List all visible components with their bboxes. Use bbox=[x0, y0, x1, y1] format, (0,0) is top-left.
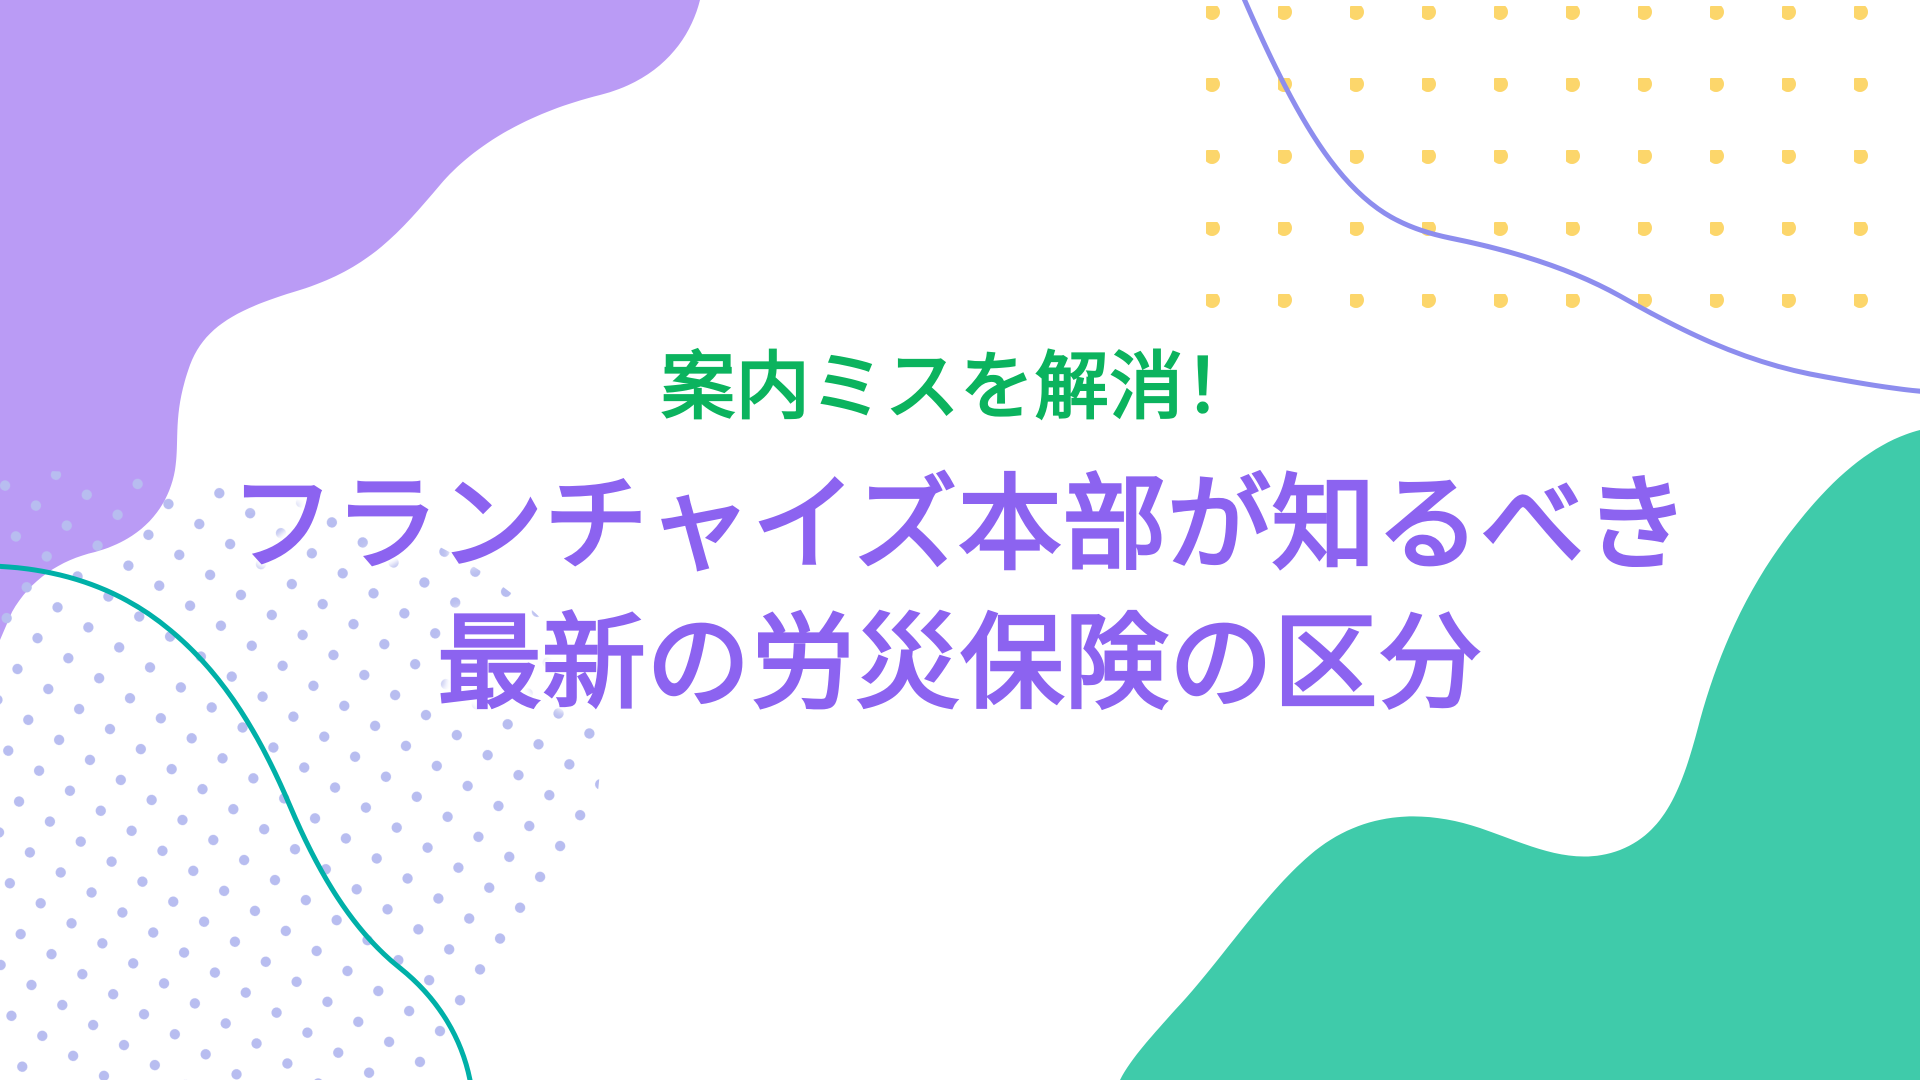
poster-canvas: 案内ミスを解消！ フランチャイズ本部が知るべき 最新の労災保険の区分 bbox=[0, 0, 1920, 1080]
main-headline: フランチャイズ本部が知るべき 最新の労災保険の区分 bbox=[230, 455, 1689, 734]
poster-text-block: 案内ミスを解消！ フランチャイズ本部が知るべき 最新の労災保険の区分 bbox=[0, 0, 1920, 1080]
eyebrow-headline: 案内ミスを解消！ bbox=[661, 346, 1259, 429]
headline-line-2: 最新の労災保険の区分 bbox=[230, 594, 1689, 733]
headline-line-1: フランチャイズ本部が知るべき bbox=[230, 455, 1689, 594]
